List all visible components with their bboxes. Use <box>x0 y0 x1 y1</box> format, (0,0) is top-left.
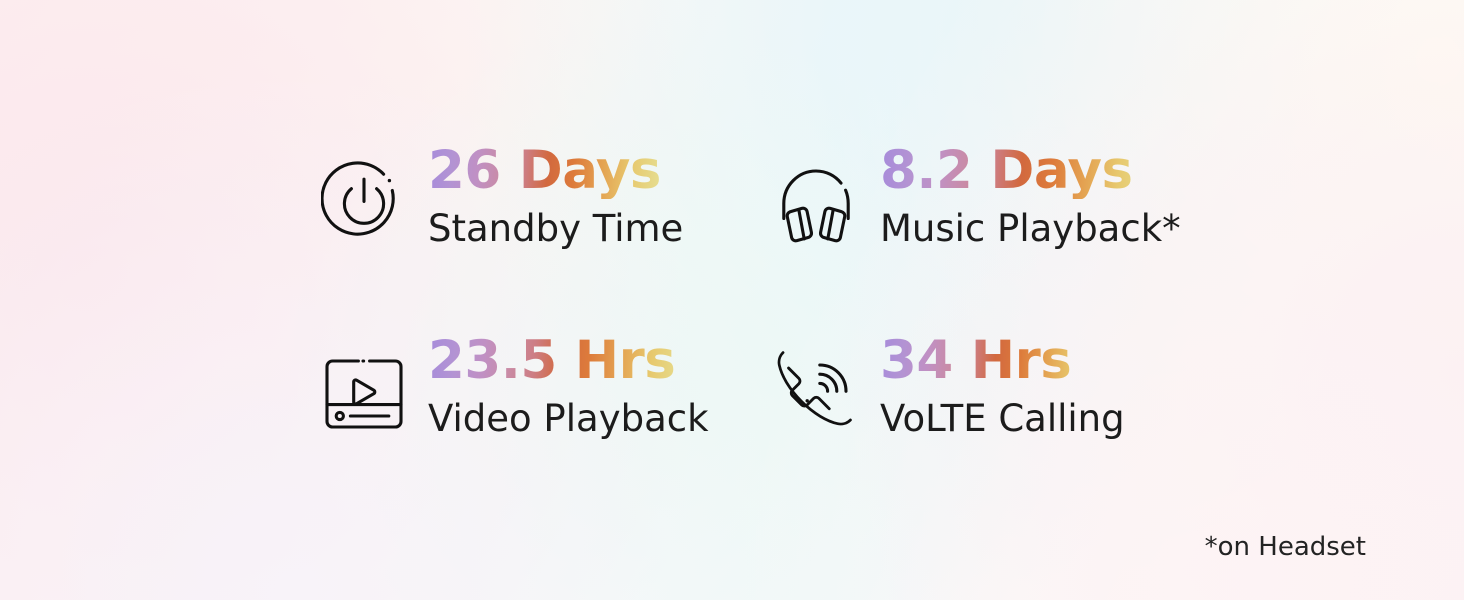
video-player-icon <box>318 344 410 444</box>
stat-text-music-playback: 8.2 Days Music Playback* <box>880 140 1181 249</box>
power-button-icon <box>318 154 410 254</box>
headphones-icon <box>770 154 862 254</box>
stats-grid: 26 Days Standby Time 8.2 Days Music Play… <box>318 140 1218 520</box>
stat-item-music-playback: 8.2 Days Music Playback* <box>770 140 1218 330</box>
stat-label: Music Playback* <box>880 208 1181 249</box>
stat-text-standby-time: 26 Days Standby Time <box>428 140 683 249</box>
stat-label: Standby Time <box>428 208 683 249</box>
stat-value: 8.2 Days <box>880 144 1181 199</box>
stat-item-video-playback: 23.5 Hrs Video Playback <box>318 330 770 520</box>
stat-item-standby-time: 26 Days Standby Time <box>318 140 770 330</box>
stat-value: 23.5 Hrs <box>428 334 709 389</box>
stat-text-volte-calling: 34 Hrs VoLTE Calling <box>880 330 1125 439</box>
stat-label: VoLTE Calling <box>880 398 1125 439</box>
stat-text-video-playback: 23.5 Hrs Video Playback <box>428 330 709 439</box>
stat-label: Video Playback <box>428 398 709 439</box>
phone-call-icon <box>770 344 862 444</box>
battery-life-banner: 26 Days Standby Time 8.2 Days Music Play… <box>0 0 1464 600</box>
stat-value: 26 Days <box>428 144 683 199</box>
footnote-text: *on Headset <box>1205 532 1366 562</box>
stat-item-volte-calling: 34 Hrs VoLTE Calling <box>770 330 1218 520</box>
stat-value: 34 Hrs <box>880 334 1125 389</box>
